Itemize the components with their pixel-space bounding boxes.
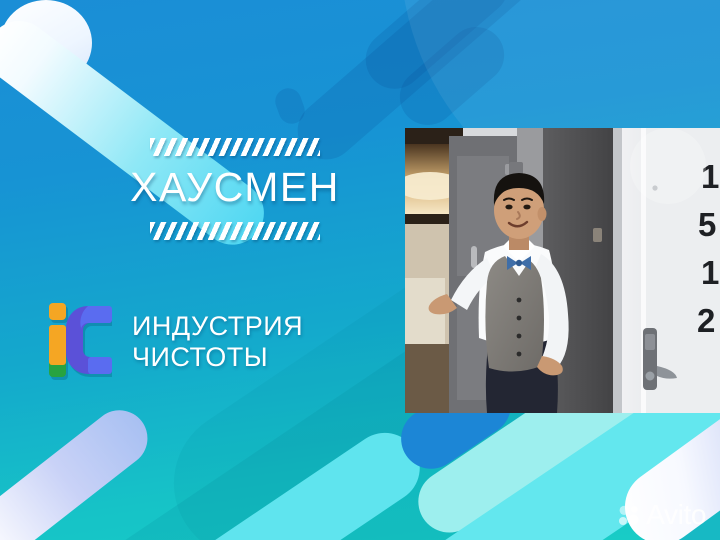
decor-gradient-capsule-bottom-left bbox=[0, 399, 159, 540]
decor-photo-overlay-blob bbox=[630, 128, 706, 204]
avito-wordmark: Avito bbox=[646, 501, 706, 529]
avito-watermark: Avito bbox=[618, 501, 706, 529]
svg-text:1: 1 bbox=[701, 254, 719, 291]
advertisement-banner: ХАУСМЕН bbox=[0, 0, 720, 540]
hatch-decoration-top bbox=[150, 138, 320, 156]
brand-name-line-2: ЧИСТОТЫ bbox=[132, 342, 268, 372]
industry-cleanliness-logo-icon bbox=[44, 303, 116, 381]
brand-name-line-1: ИНДУСТРИЯ bbox=[132, 311, 303, 341]
brand-lockup: ИНДУСТРИЯ ЧИСТОТЫ bbox=[44, 303, 303, 381]
svg-text:5: 5 bbox=[698, 206, 716, 243]
avito-logo-icon bbox=[618, 504, 641, 527]
title-block: ХАУСМЕН bbox=[110, 138, 360, 240]
brand-name: ИНДУСТРИЯ ЧИСТОТЫ bbox=[132, 311, 303, 373]
hatch-decoration-bottom bbox=[150, 222, 320, 240]
page-title: ХАУСМЕН bbox=[110, 167, 360, 208]
svg-text:2: 2 bbox=[697, 302, 715, 339]
